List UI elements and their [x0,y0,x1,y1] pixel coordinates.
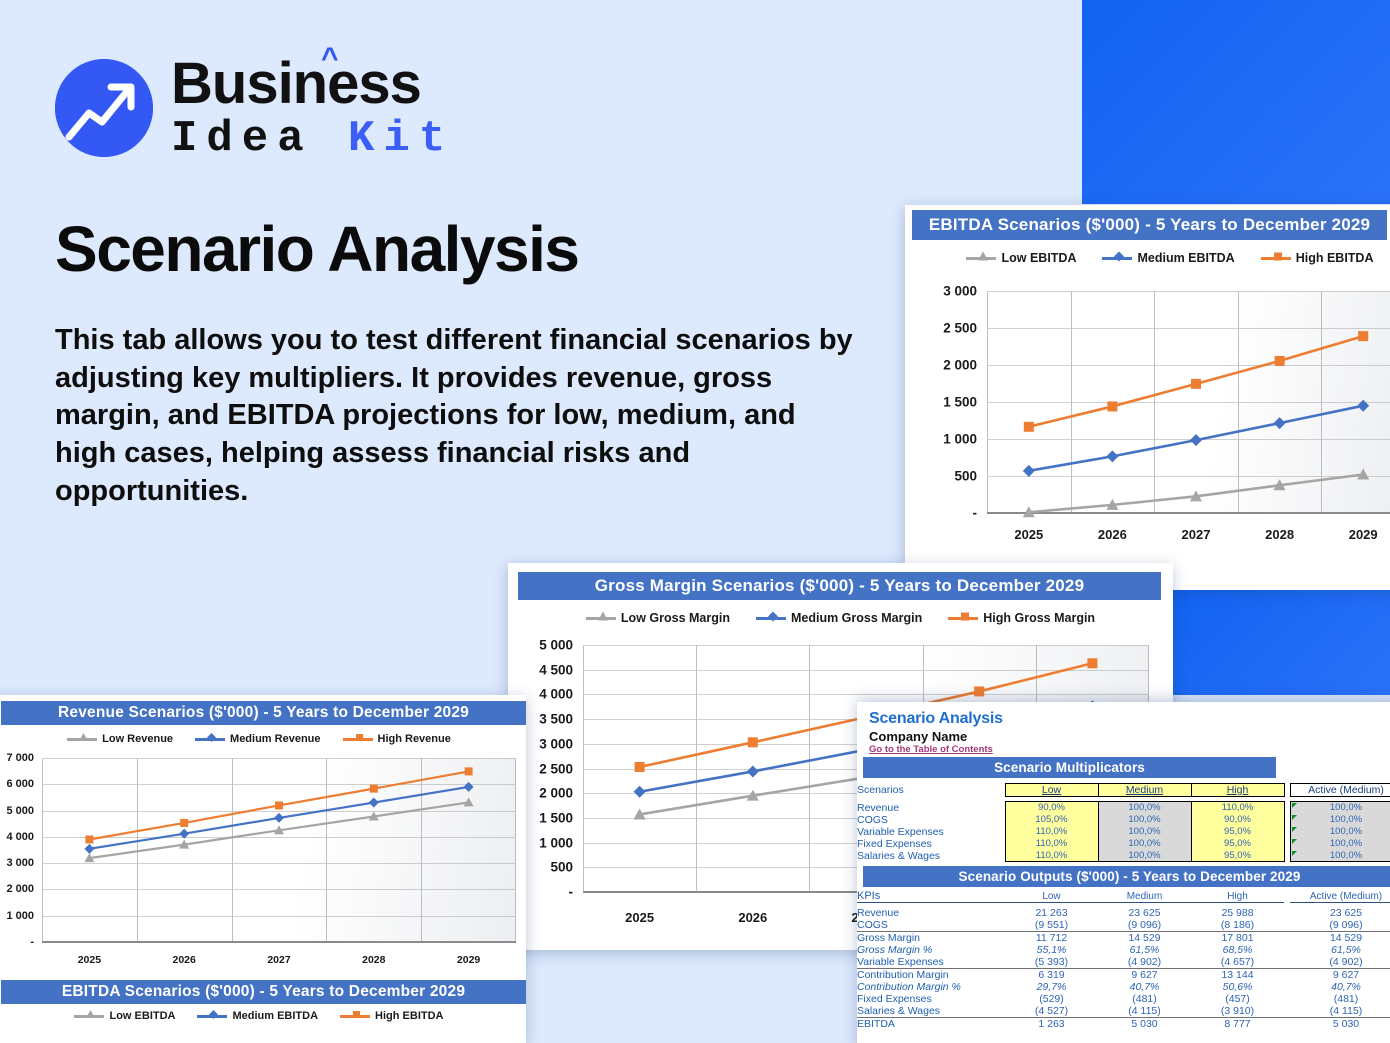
chart-card-revenue[interactable]: Revenue Scenarios ($'000) - 5 Years to D… [0,695,526,1043]
brand-word-idea: Idea [171,114,348,164]
cell-low[interactable]: 110,0% [1005,850,1098,862]
table-row[interactable]: Variable Expenses 110,0% 100,0% 95,0% 10… [857,826,1390,838]
brand-word-business: Business [171,51,421,116]
legend-swatch-diamond-icon [756,617,786,620]
legend-label: Low EBITDA [109,1010,175,1022]
chart-legend-gross-margin: Low Gross MarginMedium Gross MarginHigh … [508,611,1173,625]
column-header-active: Active (Medium) [1290,784,1390,797]
row-label: Fixed Expenses [857,838,1005,850]
slide-canvas: Business ^ Idea Kit Scenario Analysis Th… [0,0,1390,1043]
legend-item: Low Gross Margin [586,611,730,625]
kpi-medium: (9 096) [1098,919,1191,932]
kpi-medium: 40,7% [1098,981,1191,993]
chart-series-layer [905,283,1390,553]
column-header-high[interactable]: High [1191,784,1284,797]
kpi-high: 68,5% [1191,944,1284,956]
cell-active: 100,0% [1290,826,1390,838]
panel-header: Scenario Analysis Company Name Go to the… [857,702,1390,757]
column-header-high: High [1191,890,1284,903]
cell-medium[interactable]: 100,0% [1098,850,1191,862]
legend-swatch-diamond-icon [195,738,225,741]
scenario-multiplicators-table[interactable]: ScenariosLowMediumHighActive (Medium) Re… [857,783,1390,862]
table-row[interactable]: Contribution Margin 6 319 9 627 13 144 9… [857,968,1390,981]
kpi-medium: 9 627 [1098,968,1191,981]
kpi-low: 55,1% [1005,944,1098,956]
legend-item: Low Revenue [67,733,173,745]
kpi-label: Contribution Margin [857,968,1005,981]
cell-high[interactable]: 95,0% [1191,838,1284,850]
legend-item: Medium Gross Margin [756,611,922,625]
kpi-label: EBITDA [857,1017,1005,1030]
kpi-active: 14 529 [1290,931,1390,944]
chart-legend-ebitda-bottom: Low EBITDAMedium EBITDAHigh EBITDA [0,1010,526,1022]
legend-swatch-triangle-icon [966,257,996,260]
kpi-active: (4 902) [1290,956,1390,969]
cell-medium[interactable]: 100,0% [1098,814,1191,826]
kpi-high: 17 801 [1191,931,1284,944]
kpi-high: 8 777 [1191,1017,1284,1030]
legend-label: Medium EBITDA [1137,251,1234,265]
decorative-blue-block-top [1082,0,1390,204]
decorative-blue-block-middle [1168,590,1390,695]
row-label: Revenue [857,802,1005,814]
table-row[interactable]: Fixed Expenses 110,0% 100,0% 95,0% 100,0… [857,838,1390,850]
brand-word-kit: Kit [348,114,454,164]
kpi-label: Contribution Margin % [857,981,1005,993]
kpi-active: (481) [1290,993,1390,1005]
chart-series-layer [0,753,526,978]
kpi-medium: (481) [1098,993,1191,1005]
kpi-label: Revenue [857,907,1005,919]
page-title: Scenario Analysis [55,212,579,286]
kpi-low: (5 393) [1005,956,1098,969]
kpi-high: 13 144 [1191,968,1284,981]
scenario-outputs-table[interactable]: KPIsLowMediumHighActive (Medium) Revenue… [857,890,1390,1030]
chart-legend-ebitda: Low EBITDAMedium EBITDAHigh EBITDA [905,251,1390,265]
legend-label: High EBITDA [1296,251,1374,265]
band-scenario-outputs: Scenario Outputs ($'000) - 5 Years to De… [863,866,1390,887]
brand-name-primary: Business ^ [171,55,454,113]
legend-label: Medium Gross Margin [791,611,922,625]
kpi-high: 50,6% [1191,981,1284,993]
legend-item: Low EBITDA [966,251,1076,265]
brand-name-secondary: Idea Kit [171,117,454,161]
legend-item: High EBITDA [1261,251,1374,265]
kpi-label: Fixed Expenses [857,993,1005,1005]
legend-item: High Gross Margin [948,611,1095,625]
kpi-low: 1 263 [1005,1017,1098,1030]
legend-swatch-square-icon [948,617,978,620]
table-row[interactable]: Variable Expenses (5 393) (4 902) (4 657… [857,956,1390,969]
table-row[interactable]: Gross Margin % 55,1% 61,5% 68,5% 61,5% [857,944,1390,956]
legend-swatch-triangle-icon [67,738,97,741]
legend-item: Medium EBITDA [197,1010,318,1022]
brand-logo: Business ^ Idea Kit [55,55,454,161]
legend-item: Low EBITDA [74,1010,175,1022]
kpi-medium: 5 030 [1098,1017,1191,1030]
panel-title: Scenario Analysis [869,710,1390,728]
row-header-label: KPIs [857,890,1005,903]
kpi-active: 9 627 [1290,968,1390,981]
kpi-low: 29,7% [1005,981,1098,993]
kpi-high: 25 988 [1191,907,1284,919]
kpi-active: (4 115) [1290,1005,1390,1018]
kpi-low: (4 527) [1005,1005,1098,1018]
cell-active: 100,0% [1290,802,1390,814]
legend-item: High EBITDA [340,1010,443,1022]
chart-legend-revenue: Low RevenueMedium RevenueHigh Revenue [0,733,526,745]
chart-plot-revenue: -1 0002 0003 0004 0005 0006 0007 0002025… [0,753,526,978]
kpi-label: Salaries & Wages [857,1005,1005,1018]
row-label: COGS [857,814,1005,826]
legend-item: Medium Revenue [195,733,320,745]
kpi-medium: 61,5% [1098,944,1191,956]
cell-low[interactable]: 110,0% [1005,826,1098,838]
kpi-label: COGS [857,919,1005,932]
legend-label: High Gross Margin [983,611,1095,625]
chart-title-ebitda-bottom: EBITDA Scenarios ($'000) - 5 Years to De… [1,980,526,1004]
legend-swatch-square-icon [340,1015,370,1018]
table-of-contents-link[interactable]: Go to the Table of Contents [869,744,993,755]
kpi-low: 21 263 [1005,907,1098,919]
column-header-low: Low [1005,890,1098,903]
legend-item: High Revenue [343,733,451,745]
row-label: Salaries & Wages [857,850,1005,862]
table-row[interactable]: EBITDA 1 263 5 030 8 777 5 030 [857,1017,1390,1030]
kpi-high: (4 657) [1191,956,1284,969]
kpi-medium: (4 115) [1098,1005,1191,1018]
legend-label: Low Gross Margin [621,611,730,625]
cell-medium[interactable]: 100,0% [1098,826,1191,838]
table-row[interactable]: Revenue 21 263 23 625 25 988 23 625 [857,907,1390,919]
kpi-low: 11 712 [1005,931,1098,944]
cell-low[interactable]: 90,0% [1005,802,1098,814]
kpi-active: 23 625 [1290,907,1390,919]
table-row[interactable]: COGS 105,0% 100,0% 90,0% 100,0% [857,814,1390,826]
legend-label: High Revenue [378,733,451,745]
chart-plot-ebitda: -5001 0001 5002 0002 5003 00020252026202… [905,283,1390,553]
legend-label: High EBITDA [375,1010,443,1022]
table-row[interactable]: Revenue 90,0% 100,0% 110,0% 100,0% [857,802,1390,814]
table-header-row: ScenariosLowMediumHighActive (Medium) [857,784,1390,797]
kpi-high: (8 186) [1191,919,1284,932]
cell-high[interactable]: 90,0% [1191,814,1284,826]
page-description: This tab allows you to test different fi… [55,322,855,510]
cell-low[interactable]: 105,0% [1005,814,1098,826]
legend-label: Low Revenue [102,733,173,745]
cell-active: 100,0% [1290,838,1390,850]
kpi-low: (529) [1005,993,1098,1005]
column-header-active: Active (Medium) [1290,890,1390,903]
legend-swatch-diamond-icon [197,1015,227,1018]
cell-high[interactable]: 95,0% [1191,826,1284,838]
table-row[interactable]: Contribution Margin % 29,7% 40,7% 50,6% … [857,981,1390,993]
chart-title-gross-margin: Gross Margin Scenarios ($'000) - 5 Years… [518,572,1161,600]
cell-active: 100,0% [1290,850,1390,862]
legend-label: Low EBITDA [1001,251,1076,265]
column-header-low[interactable]: Low [1005,784,1098,797]
legend-swatch-triangle-icon [74,1015,104,1018]
legend-label: Medium Revenue [230,733,320,745]
cell-medium[interactable]: 100,0% [1098,802,1191,814]
kpi-low: (9 551) [1005,919,1098,932]
legend-swatch-triangle-icon [586,617,616,620]
kpi-active: 61,5% [1290,944,1390,956]
cell-high[interactable]: 110,0% [1191,802,1284,814]
kpi-active: 40,7% [1290,981,1390,993]
column-header-medium: Medium [1098,890,1191,903]
table-row[interactable]: Salaries & Wages 110,0% 100,0% 95,0% 100… [857,850,1390,862]
kpi-active: 5 030 [1290,1017,1390,1030]
chart-title-revenue: Revenue Scenarios ($'000) - 5 Years to D… [1,701,526,725]
chart-title-ebitda: EBITDA Scenarios ($'000) - 5 Years to De… [912,210,1387,240]
cell-low[interactable]: 110,0% [1005,838,1098,850]
band-scenario-multiplicators: Scenario Multiplicators [863,757,1276,778]
kpi-active: (9 096) [1290,919,1390,932]
kpi-low: 6 319 [1005,968,1098,981]
legend-swatch-square-icon [1261,257,1291,260]
company-name: Company Name [869,729,1390,744]
cell-active: 100,0% [1290,814,1390,826]
kpi-label: Gross Margin [857,931,1005,944]
table-row[interactable]: Fixed Expenses (529) (481) (457) (481) [857,993,1390,1005]
kpi-label: Gross Margin % [857,944,1005,956]
row-label: Variable Expenses [857,826,1005,838]
chart-card-ebitda[interactable]: EBITDA Scenarios ($'000) - 5 Years to De… [905,205,1390,590]
kpi-label: Variable Expenses [857,956,1005,969]
kpi-high: (457) [1191,993,1284,1005]
table-row[interactable]: COGS (9 551) (9 096) (8 186) (9 096) [857,919,1390,932]
table-header-row: KPIsLowMediumHighActive (Medium) [857,890,1390,903]
column-header-medium[interactable]: Medium [1098,784,1191,797]
legend-item: Medium EBITDA [1102,251,1234,265]
row-header-label: Scenarios [857,784,1005,797]
brand-caret-accent: ^ [321,44,338,74]
legend-swatch-square-icon [343,738,373,741]
kpi-medium: 14 529 [1098,931,1191,944]
table-row[interactable]: Salaries & Wages (4 527) (4 115) (3 910)… [857,1005,1390,1018]
legend-swatch-diamond-icon [1102,257,1132,260]
growth-arrow-icon [55,59,153,157]
table-row[interactable]: Gross Margin 11 712 14 529 17 801 14 529 [857,931,1390,944]
cell-high[interactable]: 95,0% [1191,850,1284,862]
kpi-medium: 23 625 [1098,907,1191,919]
cell-medium[interactable]: 100,0% [1098,838,1191,850]
kpi-high: (3 910) [1191,1005,1284,1018]
scenario-analysis-panel[interactable]: Scenario Analysis Company Name Go to the… [857,702,1390,1043]
legend-label: Medium EBITDA [232,1010,318,1022]
kpi-medium: (4 902) [1098,956,1191,969]
